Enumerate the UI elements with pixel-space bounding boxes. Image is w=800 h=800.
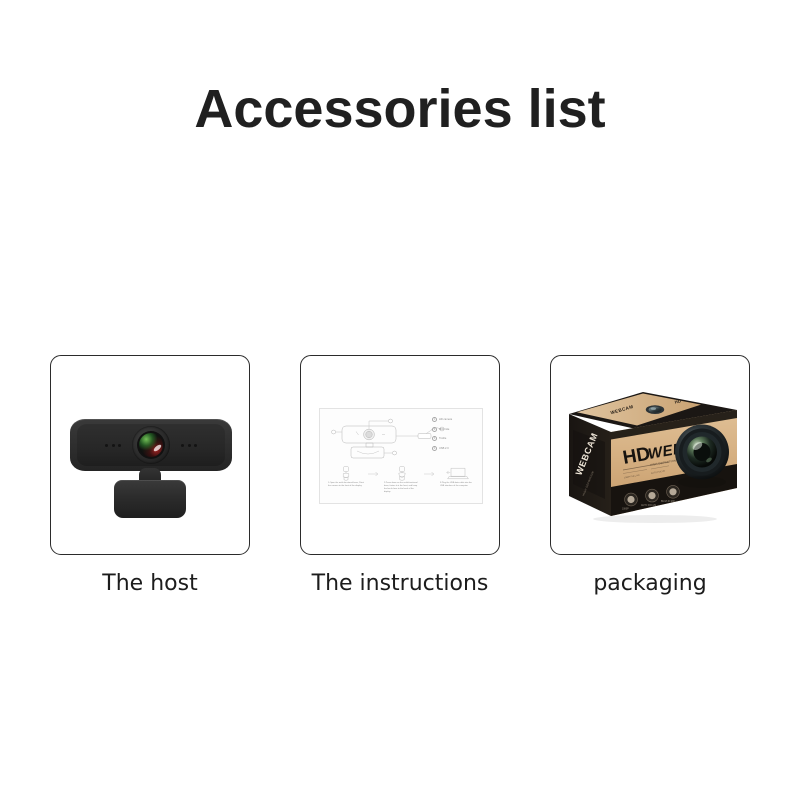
webcam-front-face — [77, 424, 225, 466]
instruction-sheet-image: 1 HD camera 2 MIC hole 3 Treble 4 — [319, 408, 483, 504]
legend-number: 1 — [432, 417, 437, 422]
retail-box-drawing: WEBCAM HD WEBCAM HIGH DEFINITION — [551, 356, 750, 555]
hand-press-base-icon — [384, 465, 420, 481]
instruction-step-text: 1.Open the multi-functional base, Point … — [328, 482, 364, 488]
accessory-caption-host: The host — [50, 571, 250, 596]
box-side-face: WEBCAM HIGH DEFINITION — [569, 414, 611, 516]
accessory-item-instructions[interactable]: 1 HD camera 2 MIC hole 3 Treble 4 — [300, 355, 500, 605]
legend-number: 3 — [432, 436, 437, 441]
microphone-holes-right-icon — [181, 444, 197, 447]
accessory-caption-packaging: packaging — [550, 571, 750, 596]
instruction-steps: 1.Open the multi-functional base, Point … — [326, 465, 478, 501]
legend-number: 4 — [432, 446, 437, 451]
box-top-lens-icon — [646, 405, 664, 414]
page-title: Accessories list — [0, 78, 800, 140]
microphone-holes-left-icon — [105, 444, 121, 447]
accessories-list-page: Accessories list — [0, 0, 800, 800]
instruction-step: 2.Press down on the multi-functional bas… — [382, 465, 422, 501]
instruction-legend: 1 HD camera 2 MIC hole 3 Treble 4 — [432, 417, 478, 455]
feature-badge-label: AUTO FOCUS — [641, 504, 656, 507]
legend-item: 4 USB 2.0 — [432, 446, 478, 451]
legend-number: 2 — [432, 427, 437, 432]
legend-label: MIC hole — [439, 428, 449, 431]
instruction-step: 3.Plug the USB data cable into the USB i… — [438, 465, 478, 501]
legend-item: 3 Treble — [432, 436, 478, 441]
legend-item: 2 MIC hole — [432, 427, 478, 432]
webcam-device-image — [51, 356, 249, 554]
legend-label: HD camera — [439, 418, 452, 421]
webcam-base-stand — [114, 480, 186, 518]
legend-label: USB 2.0 — [439, 447, 449, 450]
instruction-step-text: 3.Plug the USB data cable into the USB i… — [440, 482, 476, 488]
accessory-card-instructions[interactable]: 1 HD camera 2 MIC hole 3 Treble 4 — [300, 355, 500, 555]
step-arrow-icon — [422, 465, 438, 501]
hand-open-base-icon — [328, 465, 364, 481]
feature-badge-label: BUILT-IN MIC — [661, 501, 675, 503]
legend-label: Treble — [439, 437, 446, 440]
retail-box-image: WEBCAM HD WEBCAM HIGH DEFINITION — [551, 356, 749, 554]
webcam-body — [70, 419, 232, 471]
box-ground-shadow — [593, 515, 717, 523]
instruction-step: 1.Open the multi-functional base, Point … — [326, 465, 366, 501]
webcam-lens-ring — [137, 431, 165, 459]
webcam-lens-barrel — [132, 426, 170, 464]
accessories-card-row: The host — [50, 355, 750, 605]
accessory-caption-instructions: The instructions — [300, 571, 500, 596]
box-front-lens-graphic — [675, 425, 729, 489]
feature-badge-label: 1080P — [622, 509, 629, 511]
laptop-icon — [440, 465, 476, 481]
accessory-item-host[interactable]: The host — [50, 355, 250, 605]
step-arrow-icon — [366, 465, 382, 501]
accessory-item-packaging[interactable]: WEBCAM HD WEBCAM HIGH DEFINITION — [550, 355, 750, 605]
accessory-card-packaging[interactable]: WEBCAM HD WEBCAM HIGH DEFINITION — [550, 355, 750, 555]
instruction-step-text: 2.Press down on the multi-functional bas… — [384, 482, 420, 494]
accessory-card-host[interactable] — [50, 355, 250, 555]
legend-item: 1 HD camera — [432, 417, 478, 422]
